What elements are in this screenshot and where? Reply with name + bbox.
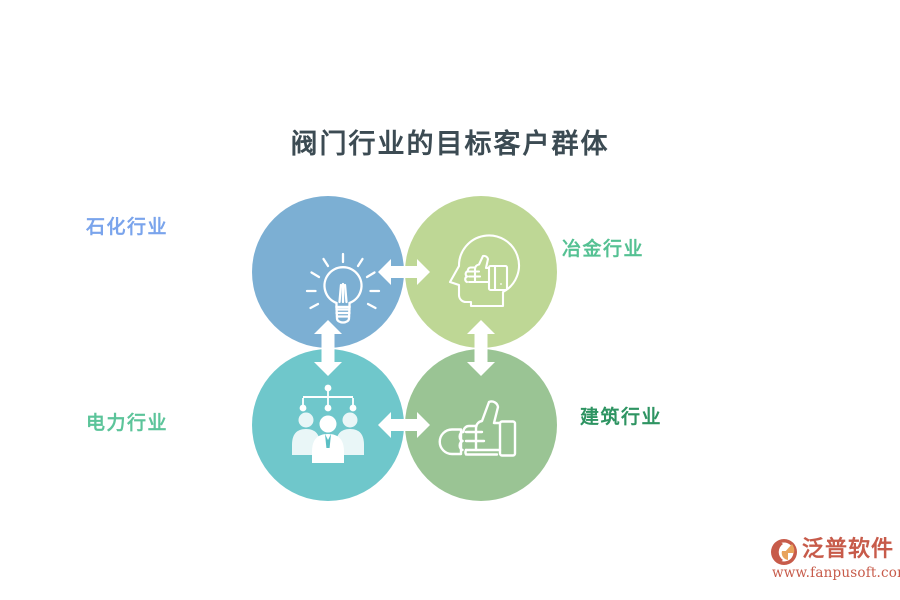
venn-label-metallurgy: 冶金行业 <box>562 236 644 262</box>
brand-logo[interactable]: 泛普软件 www.fanpusoft.com <box>770 536 890 588</box>
page-title: 阀门行业的目标客户群体 <box>0 125 900 165</box>
venn-label-power: 电力行业 <box>86 410 168 436</box>
logo-wordmark: 泛普软件 <box>802 536 894 564</box>
venn-diagram-svg <box>252 196 557 501</box>
venn-label-petrochemical: 石化行业 <box>86 214 168 240</box>
venn-label-construction: 建筑行业 <box>580 404 662 430</box>
venn-diagram <box>252 196 557 501</box>
page-canvas: 阀门行业的目标客户群体 <box>0 0 900 600</box>
logo-url: www.fanpusoft.com <box>772 565 900 582</box>
fanpu-logo-icon <box>770 538 800 566</box>
